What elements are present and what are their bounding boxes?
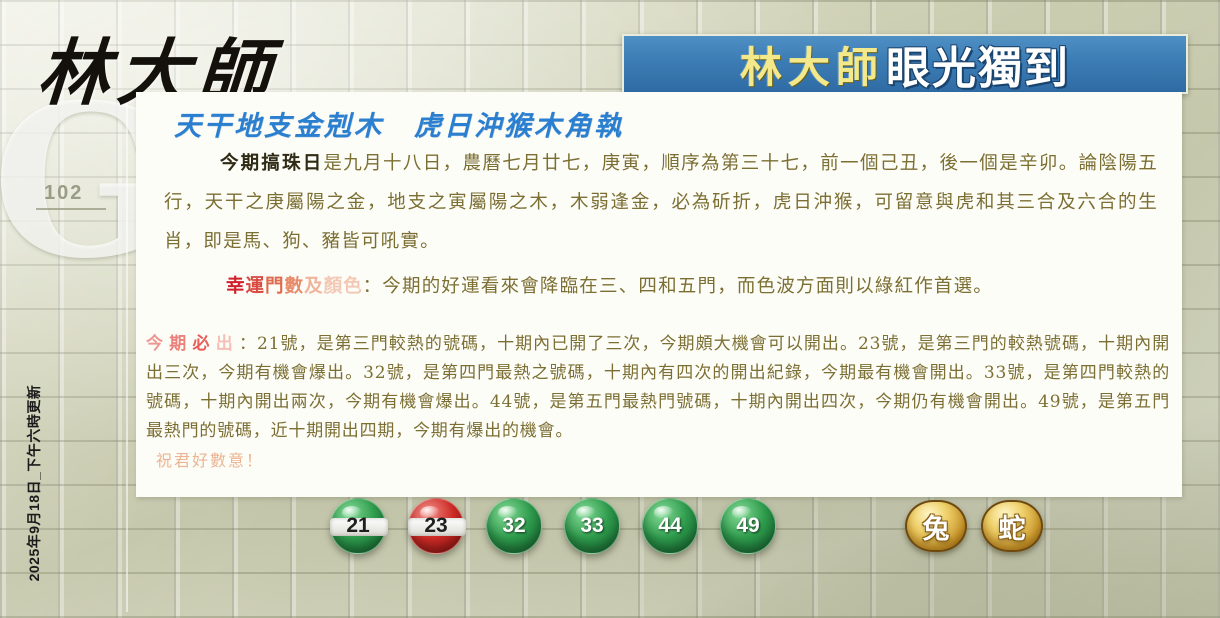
- signature-text: 祝君好數意！: [156, 447, 264, 471]
- lucky-text: ：今期的好運看來會降臨在三、四和五門，而色波方面則以綠紅作首選。: [363, 276, 993, 297]
- zodiac-row: 兔 蛇: [905, 500, 1043, 552]
- ball-number: 23: [424, 514, 447, 538]
- zodiac-badge-snake[interactable]: 蛇: [981, 500, 1043, 552]
- lucky-tag: 幸運門數及顏色: [226, 276, 363, 297]
- picks-text: ：21號，是第三門較熱的號碼，十期內已開了三次，今期頗大機會可以開出。23號，是…: [146, 334, 1170, 441]
- paragraph-lucky: 幸運門數及顏色：今期的好運看來會降臨在三、四和五門，而色波方面則以綠紅作首選。: [154, 267, 1168, 306]
- ball-number: 21: [346, 514, 369, 538]
- lottery-ball[interactable]: 33: [564, 498, 620, 554]
- ball-number: 32: [502, 514, 525, 538]
- header-banner: 林大師 眼光獨到: [622, 34, 1188, 94]
- ball-number: 33: [580, 514, 603, 538]
- article-card: 天干地支金剋木 虎日沖猴木角執 今期搞珠日是九月十八日，農曆七月廿七，庚寅，順序…: [136, 92, 1182, 497]
- zodiac-label: 蛇: [999, 507, 1026, 546]
- vertical-divider: [126, 92, 128, 612]
- lottery-ball[interactable]: 23: [408, 498, 464, 554]
- lottery-ball[interactable]: 21: [330, 498, 386, 554]
- page-title: 天干地支金剋木 虎日沖猴木角執: [174, 104, 624, 143]
- lottery-ball[interactable]: 44: [642, 498, 698, 554]
- picks-tag: 今期必出: [146, 334, 239, 354]
- paragraph-lead: 今期搞珠日: [220, 153, 323, 174]
- update-timestamp: 2025年9月18日_下午六時更新: [21, 363, 47, 603]
- banner-brand: 林大師: [740, 34, 884, 94]
- lottery-ball[interactable]: 32: [486, 498, 542, 554]
- zodiac-label: 兔: [923, 507, 950, 546]
- ball-number: 44: [658, 514, 681, 538]
- page-number-rule: [36, 208, 106, 210]
- lottery-ball[interactable]: 49: [720, 498, 776, 554]
- banner-slogan: 眼光獨到: [886, 34, 1070, 94]
- ball-number: 49: [736, 514, 759, 538]
- zodiac-badge-rabbit[interactable]: 兔: [905, 500, 967, 552]
- paragraph-picks: 今期必出：21號，是第三門較熱的號碼，十期內已開了三次，今期頗大機會可以開出。2…: [146, 330, 1170, 446]
- article-body: 今期搞珠日是九月十八日，農曆七月廿七，庚寅，順序為第三十七，前一個己丑，後一個是…: [154, 144, 1168, 306]
- paragraph-draw-day: 今期搞珠日是九月十八日，農曆七月廿七，庚寅，順序為第三十七，前一個己丑，後一個是…: [154, 144, 1168, 261]
- page-number: 102: [44, 182, 83, 205]
- lottery-ball-row: 21 23 32 33 44 49: [330, 498, 776, 554]
